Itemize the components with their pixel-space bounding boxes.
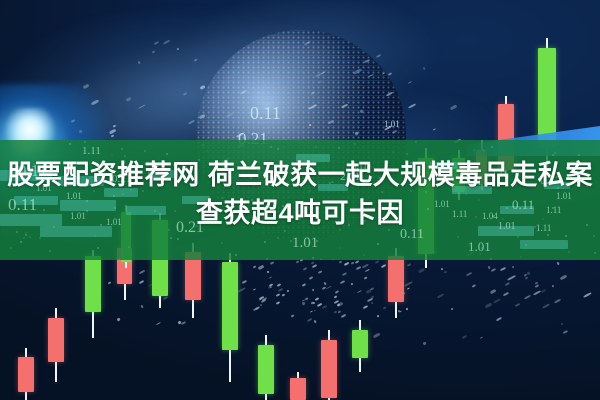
headline-line-2: 查获超4吨可卡因 <box>0 194 600 232</box>
candle-body <box>48 318 64 362</box>
candle-down <box>48 308 64 382</box>
candle-up <box>258 335 274 400</box>
candle-up <box>352 320 368 372</box>
promo-banner: 0.110.211.01 0.110.111.011.011.110.211.0… <box>0 0 600 400</box>
candle-body <box>352 330 368 358</box>
candle-body <box>18 357 34 392</box>
candle-body <box>321 340 337 398</box>
candle-body <box>222 262 238 350</box>
headline: 股票配资推荐网 荷兰破获一起大规模毒品走私案 查获超4吨可卡因 <box>0 156 600 232</box>
candle-body <box>388 256 404 302</box>
candle-down <box>321 330 337 400</box>
candle-body <box>258 345 274 394</box>
candle-down <box>18 348 34 400</box>
candle-body <box>290 378 306 400</box>
candle-up <box>222 253 238 382</box>
headline-line-1: 股票配资推荐网 荷兰破获一起大规模毒品走私案 <box>0 156 600 194</box>
candle-up <box>85 250 101 338</box>
candle-body <box>85 256 101 312</box>
candle-down <box>290 372 306 400</box>
